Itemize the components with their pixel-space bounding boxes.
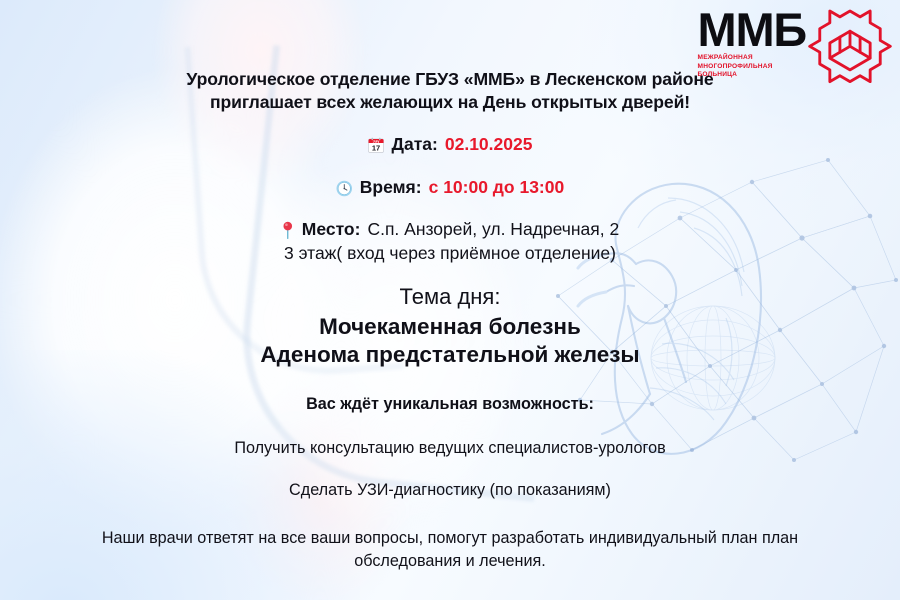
offer-lead: Вас ждёт уникальная возможность:: [306, 395, 594, 414]
poster-content: Урологическое отделение ГБУЗ «ММБ» в Лес…: [0, 0, 900, 600]
logo-subtitle-line-2: МНОГОПРОФИЛЬНАЯ: [698, 63, 806, 71]
location-pin-icon: [281, 221, 295, 239]
theme-item-2: Аденома предстательной железы: [260, 342, 639, 368]
detail-row-place: Место: С.п. Анзорей, ул. Надречная, 2: [281, 218, 619, 241]
place-label: Место:: [302, 218, 361, 241]
theme-item-1: Мочекаменная болезнь: [319, 314, 581, 340]
logo-subtitle: МЕЖРАЙОННАЯ МНОГОПРОФИЛЬНАЯ БОЛЬНИЦА: [698, 54, 806, 79]
hospital-logo: ММБ МЕЖРАЙОННАЯ МНОГОПРОФИЛЬНАЯ БОЛЬНИЦА: [698, 6, 892, 90]
svg-text:July: July: [373, 139, 380, 143]
date-value: 02.10.2025: [445, 133, 533, 156]
place-value: С.п. Анзорей, ул. Надречная, 2: [367, 218, 619, 241]
theme-heading: Тема дня:: [400, 284, 501, 310]
poster: ММБ МЕЖРАЙОННАЯ МНОГОПРОФИЛЬНАЯ БОЛЬНИЦА: [0, 0, 900, 600]
detail-row-date: July 17 Дата: 02.10.2025: [368, 133, 533, 156]
time-label: Время:: [360, 176, 422, 199]
page-title: Урологическое отделение ГБУЗ «ММБ» в Лес…: [140, 68, 760, 115]
offer-bullet-1: Получить консультацию ведущих специалист…: [234, 439, 665, 458]
svg-text:17: 17: [372, 143, 380, 152]
clock-icon: [336, 180, 353, 197]
detail-row-time: Время: с 10:00 до 13:00: [336, 176, 564, 199]
place-detail-line: 3 этаж( вход через приёмное отделение): [284, 243, 616, 264]
isometric-cube-logo-icon: [808, 6, 892, 90]
closing-paragraph: Наши врачи ответят на все ваши вопросы, …: [90, 527, 810, 573]
logo-subtitle-line-3: БОЛЬНИЦА: [698, 71, 806, 79]
time-value: с 10:00 до 13:00: [429, 176, 565, 199]
logo-brand-name: ММБ: [698, 8, 806, 51]
offer-bullet-2: Сделать УЗИ-диагностику (по показаниям): [289, 481, 611, 500]
date-label: Дата:: [392, 133, 438, 156]
logo-text-block: ММБ МЕЖРАЙОННАЯ МНОГОПРОФИЛЬНАЯ БОЛЬНИЦА: [698, 6, 806, 80]
calendar-icon: July 17: [368, 137, 385, 154]
